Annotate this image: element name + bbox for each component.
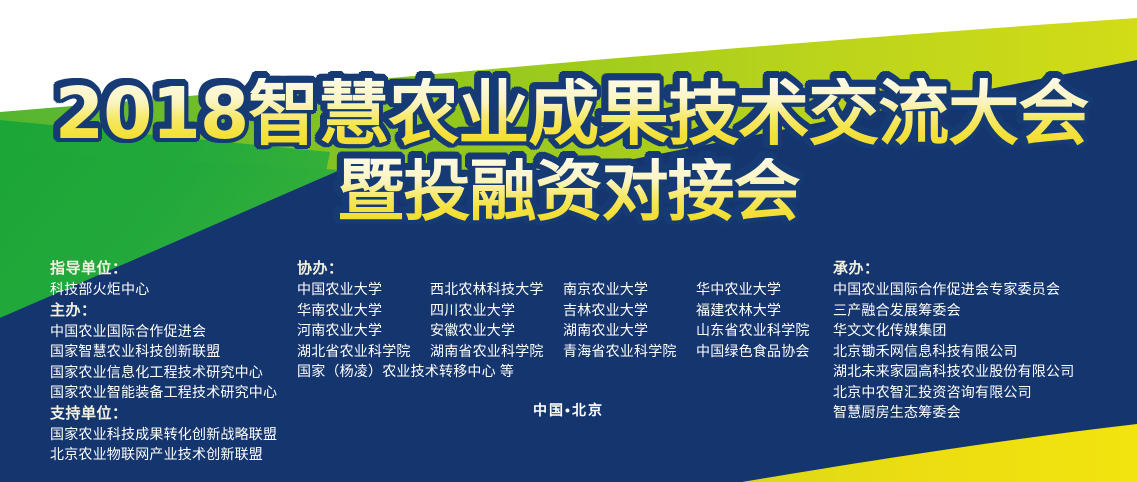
organizer-item: 湖北未来家园高科技农业股份有限公司 [833, 361, 1133, 382]
coorganizer-item: 安徽农业大学 [430, 320, 563, 341]
coorganizer-item: 湖北省农业科学院 [297, 341, 430, 362]
coorganizer-item: 福建农林大学 [696, 300, 817, 321]
coorganizer-item: 湖南省农业科学院 [430, 341, 563, 362]
coorganizer-item: 四川农业大学 [430, 300, 563, 321]
guide-unit-item: 科技部火炬中心 [50, 279, 290, 300]
coorganizer-item: 湖南农业大学 [563, 320, 696, 341]
left-credits-column: 指导单位： 科技部火炬中心 主办： 中国农业国际合作促进会 国家智慧农业科技创新… [50, 258, 290, 465]
coorganizer-item: 中国绿色食品协会 [696, 341, 817, 362]
coorganizer-item: 吉林农业大学 [563, 300, 696, 321]
coorganizer-item: 华中农业大学 [696, 279, 817, 300]
coorganizer-header: 协办： [297, 258, 817, 279]
coorganizer-last-line: 国家（杨凌）农业技术转移中心 等 [297, 361, 696, 382]
conference-poster: 2018智慧农业成果技术交流大会 暨投融资对接会 指导单位： 科技部火炬中心 主… [0, 0, 1137, 482]
support-unit-item: 国家农业科技成果转化创新战略联盟 [50, 424, 290, 445]
host-item: 国家智慧农业科技创新联盟 [50, 341, 290, 362]
host-item: 中国农业国际合作促进会 [50, 321, 290, 342]
coorganizer-item: 西北农林科技大学 [430, 279, 563, 300]
guide-unit-header: 指导单位： [50, 258, 290, 279]
organizer-item: 中国农业国际合作促进会专家委员会 [833, 279, 1133, 300]
coorganizer-item: 青海省农业科学院 [563, 341, 696, 362]
coorganizer-grid: 中国农业大学 西北农林科技大学 南京农业大学 华中农业大学 华南农业大学 四川农… [297, 279, 817, 382]
right-credits-column: 承办： 中国农业国际合作促进会专家委员会 三产融合发展筹委会 华文文化传媒集团 … [833, 258, 1133, 423]
organizer-item: 北京锄禾网信息科技有限公司 [833, 341, 1133, 362]
coorganizer-item: 中国农业大学 [297, 279, 430, 300]
coorganizer-item: 华南农业大学 [297, 300, 430, 321]
organizer-header: 承办： [833, 258, 1133, 279]
organizer-item: 华文文化传媒集团 [833, 320, 1133, 341]
coorganizer-item: 山东省农业科学院 [696, 320, 817, 341]
host-header: 主办： [50, 300, 290, 321]
support-unit-item: 北京农业物联网产业技术创新联盟 [50, 444, 290, 465]
organizer-item: 三产融合发展筹委会 [833, 300, 1133, 321]
credits-columns: 指导单位： 科技部火炬中心 主办： 中国农业国际合作促进会 国家智慧农业科技创新… [0, 258, 1137, 458]
host-item: 国家农业信息化工程技术研究中心 [50, 362, 290, 383]
coorganizer-item: 河南农业大学 [297, 320, 430, 341]
city-tag: 中国•北京 [0, 400, 1137, 420]
organizer-item: 北京中农智汇投资咨询有限公司 [833, 382, 1133, 403]
coorganizer-item: 南京农业大学 [563, 279, 696, 300]
middle-credits-column: 协办： 中国农业大学 西北农林科技大学 南京农业大学 华中农业大学 华南农业大学… [297, 258, 817, 382]
